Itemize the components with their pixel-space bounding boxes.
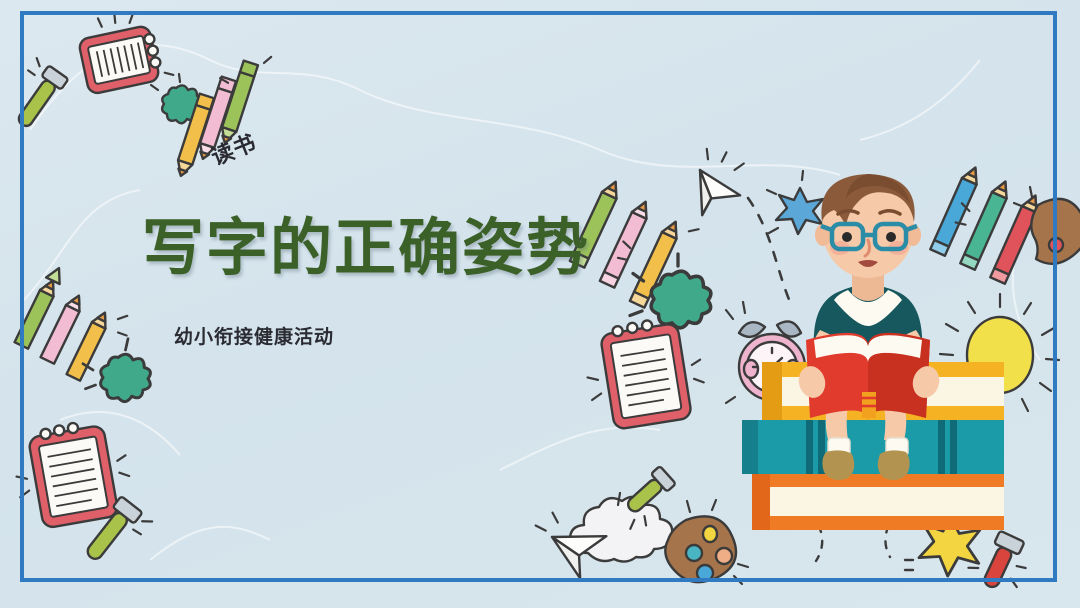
paint-palette-bottom-icon	[665, 500, 748, 584]
page-title: 写字的正确姿势	[142, 215, 590, 280]
background-illustration: .ol{stroke:#3b3b3b;stroke-width:2.4;stro…	[0, 0, 1080, 608]
notepad-red-mid-icon	[580, 313, 709, 433]
presentation-slide: .ol{stroke:#3b3b3b;stroke-width:2.4;stro…	[0, 0, 1080, 608]
page-subtitle: 幼小衔接健康活动	[174, 322, 334, 349]
book-teal	[742, 420, 1004, 474]
notepad-red-icon	[74, 5, 174, 95]
star-blue-icon	[767, 171, 823, 234]
paper-plane-icon	[692, 148, 747, 221]
book-orange	[752, 474, 1004, 530]
